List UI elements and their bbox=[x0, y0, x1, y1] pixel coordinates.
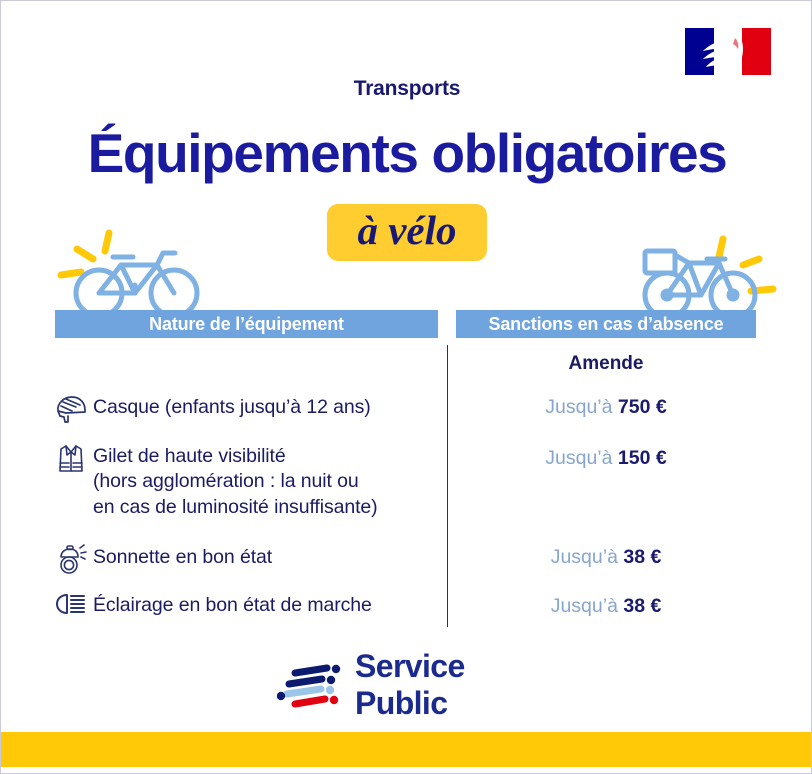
fine-amount: 150 € bbox=[618, 447, 667, 469]
helmet-icon bbox=[49, 393, 93, 432]
fine-amount: 750 € bbox=[618, 396, 667, 418]
row-label: Sonnette en bon état bbox=[93, 543, 272, 570]
bottom-accent-band bbox=[1, 732, 812, 767]
fine-value: Jusqu’à 38 € bbox=[456, 595, 756, 618]
table-row: Éclairage en bon état de marche bbox=[49, 591, 447, 630]
fine-amount: 38 € bbox=[623, 546, 661, 568]
row-label: Gilet de haute visibilité (hors agglomér… bbox=[93, 442, 378, 520]
subtitle-badge: à vélo bbox=[327, 204, 486, 261]
row-label: Casque (enfants jusqu’à 12 ans) bbox=[93, 393, 371, 420]
page-title: Équipements obligatoires bbox=[1, 126, 812, 181]
safety-vest-icon bbox=[49, 442, 93, 481]
city-bicycle-with-basket-illustration bbox=[631, 229, 791, 321]
service-public-logo-mark bbox=[277, 662, 347, 708]
fine-amount: 38 € bbox=[623, 595, 661, 617]
marianne-french-republic-logo bbox=[685, 28, 771, 75]
fine-value: Jusqu’à 38 € bbox=[456, 546, 756, 569]
fine-prefix: Jusqu’à bbox=[545, 447, 612, 469]
fine-prefix: Jusqu’à bbox=[551, 595, 618, 617]
fine-prefix: Jusqu’à bbox=[551, 546, 618, 568]
row-label: Éclairage en bon état de marche bbox=[93, 591, 372, 618]
road-bicycle-illustration bbox=[49, 227, 219, 322]
table-row: Sonnette en bon état bbox=[49, 543, 447, 582]
fine-prefix: Jusqu’à bbox=[545, 396, 612, 418]
service-public-wordmark: Service Public bbox=[355, 648, 539, 722]
fine-value: Jusqu’à 750 € bbox=[456, 396, 756, 419]
service-public-logo: Service Public bbox=[277, 659, 539, 711]
fine-column-label: Amende bbox=[456, 353, 756, 375]
fine-value: Jusqu’à 150 € bbox=[456, 447, 756, 470]
eyebrow-category: Transports bbox=[1, 77, 812, 101]
column-header-sanctions: Sanctions en cas d’absence bbox=[456, 310, 756, 338]
bell-icon bbox=[49, 543, 93, 582]
column-divider bbox=[447, 345, 448, 627]
table-row: Gilet de haute visibilité (hors agglomér… bbox=[49, 442, 447, 520]
column-header-equipment: Nature de l’équipement bbox=[55, 310, 438, 338]
table-row: Casque (enfants jusqu’à 12 ans) bbox=[49, 393, 447, 432]
infographic-root: Transports Équipements obligatoires à vé… bbox=[0, 0, 812, 774]
headlight-icon bbox=[49, 591, 93, 630]
